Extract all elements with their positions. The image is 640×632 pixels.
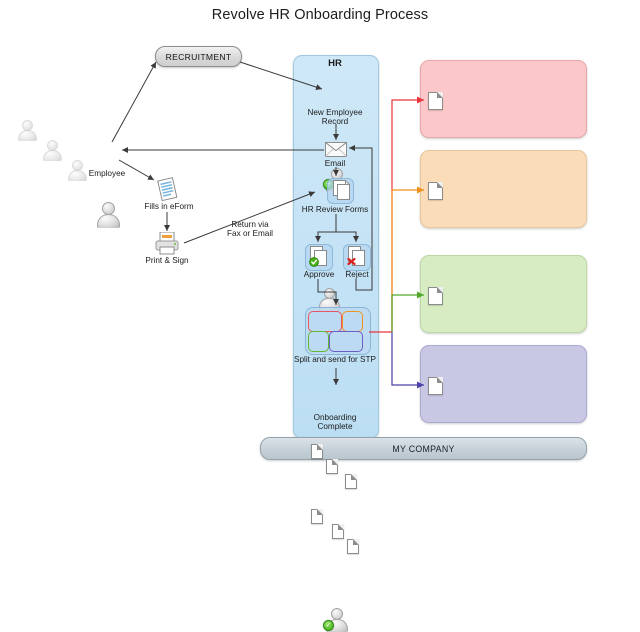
split-document-icon-2 — [326, 459, 338, 474]
employee-label: Employee — [77, 169, 137, 179]
page-title: Revolve HR Onboarding Process — [0, 7, 640, 23]
payroll-document-icon — [428, 92, 443, 110]
crowd-person-icon-2 — [43, 140, 60, 160]
department-label-it: IT — [420, 289, 640, 299]
hr-review-forms-label: HR Review Forms — [296, 205, 374, 215]
print-and-sign-icon[interactable] — [152, 232, 182, 256]
split-document-icon-5 — [332, 524, 344, 539]
split-group-payroll — [308, 311, 342, 332]
split-document-icon-4 — [311, 509, 323, 524]
background-check-document-icon — [428, 182, 443, 200]
diagram-canvas: Revolve HR Onboarding Process HR PAYROLL… — [0, 0, 640, 480]
split-group-other — [329, 331, 363, 352]
email-label: Email — [306, 159, 364, 169]
reject-documents-icon[interactable] — [347, 246, 367, 272]
reject-label: Reject — [337, 270, 377, 280]
fills-in-eform-icon[interactable] — [156, 177, 178, 201]
onboarding-complete-icon[interactable]: ✓ — [326, 608, 346, 631]
it-document-icon — [428, 287, 443, 305]
hr-review-forms-documents-icon[interactable] — [332, 180, 352, 206]
employee-icon[interactable] — [97, 202, 118, 227]
crowd-person-icon-1 — [18, 120, 35, 140]
new-employee-record-label-line2: Record — [296, 117, 374, 127]
check-badge-icon: ✓ — [323, 620, 334, 631]
approve-label: Approve — [298, 270, 340, 280]
my-company-bar: MY COMPANY — [260, 437, 587, 460]
split-document-icon-3 — [345, 474, 357, 489]
split-group-it — [308, 331, 329, 352]
return-via-note-line2: Fax or Email — [215, 229, 285, 239]
print-and-sign-label: Print & Sign — [137, 256, 197, 266]
split-document-icon-6 — [347, 539, 359, 554]
email-icon[interactable] — [325, 142, 347, 157]
recruitment-node[interactable]: RECRUITMENT — [155, 46, 242, 67]
other-document-icon — [428, 377, 443, 395]
department-label-background-check: BACKGROUND CHECK — [420, 184, 640, 194]
department-label-payroll: PAYROLL — [420, 94, 640, 104]
split-group-background-check — [342, 311, 363, 332]
fills-in-eform-label: Fills in eForm — [137, 202, 201, 212]
split-and-send-label: Split and send for STP — [293, 355, 377, 365]
onboarding-complete-label-line2: Complete — [298, 422, 372, 432]
department-label-other: OTHER — [420, 379, 640, 389]
split-document-icon-1 — [311, 444, 323, 459]
approve-documents-icon[interactable] — [309, 246, 329, 272]
hr-swimlane-title: HR — [293, 58, 377, 69]
edge-employee-to-recruitment — [112, 62, 156, 142]
